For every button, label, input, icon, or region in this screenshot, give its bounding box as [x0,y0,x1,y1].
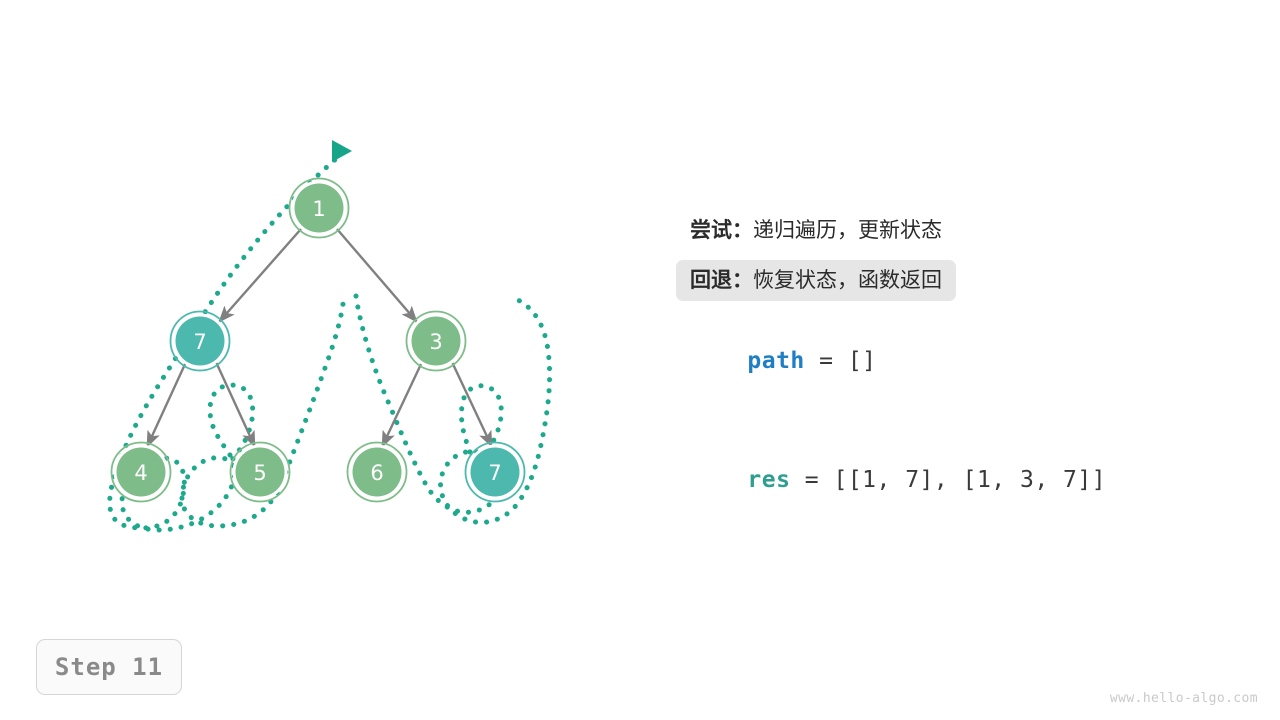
tree-node-3[interactable]: 3 [407,312,466,371]
tree-node-7-left[interactable]: 7 [171,312,230,371]
backtrack-line-keyword: 回退： [690,268,753,292]
path-variable-value: = [] [805,348,877,374]
node-label: 7 [193,330,206,354]
edge-1-to-3 [337,229,417,322]
try-line-keyword: 尝试： [690,218,753,242]
edge-3-to-7R [452,362,492,447]
watermark: www.hello-algo.com [1110,691,1258,706]
node-label: 3 [429,330,442,354]
binary-tree-figure: 1 7 3 4 5 [60,110,620,550]
edge-7L-to-4 [147,362,186,447]
node-label: 4 [134,461,147,485]
node-label: 7 [488,461,501,485]
tree-node-7-right[interactable]: 7 [466,443,525,502]
node-label: 1 [312,197,325,221]
node-label: 5 [253,461,266,485]
node-label: 6 [370,461,383,485]
backtrack-line: 回退：恢复状态，函数返回 [676,260,956,301]
res-variable-name: res [747,467,790,493]
step-badge: Step 11 [36,639,182,695]
line-spacer [690,301,1230,310]
res-line: res = [[1, 7], [1, 3, 7]] [690,429,1230,463]
tree-svg: 1 7 3 4 5 [60,110,620,550]
line-spacer [690,251,1230,260]
try-line-text: 递归遍历，更新状态 [753,218,942,242]
step-badge-label: Step 11 [55,653,163,681]
edge-7L-to-5 [216,362,255,447]
tree-node-1[interactable]: 1 [290,179,349,238]
tree-node-4[interactable]: 4 [112,443,171,502]
tree-node-5[interactable]: 5 [231,443,290,502]
traversal-pointer-icon [332,140,352,162]
info-panel: 尝试：递归遍历，更新状态 回退：恢复状态，函数返回 path = [] res … [690,210,1230,463]
path-variable-name: path [747,348,804,374]
tree-node-6[interactable]: 6 [348,443,407,502]
res-variable-value: = [[1, 7], [1, 3, 7]] [790,467,1106,493]
backtrack-line-text: 恢复状态，函数返回 [753,268,942,292]
path-line: path = [] [690,310,1230,344]
try-line: 尝试：递归遍历，更新状态 [676,210,956,251]
